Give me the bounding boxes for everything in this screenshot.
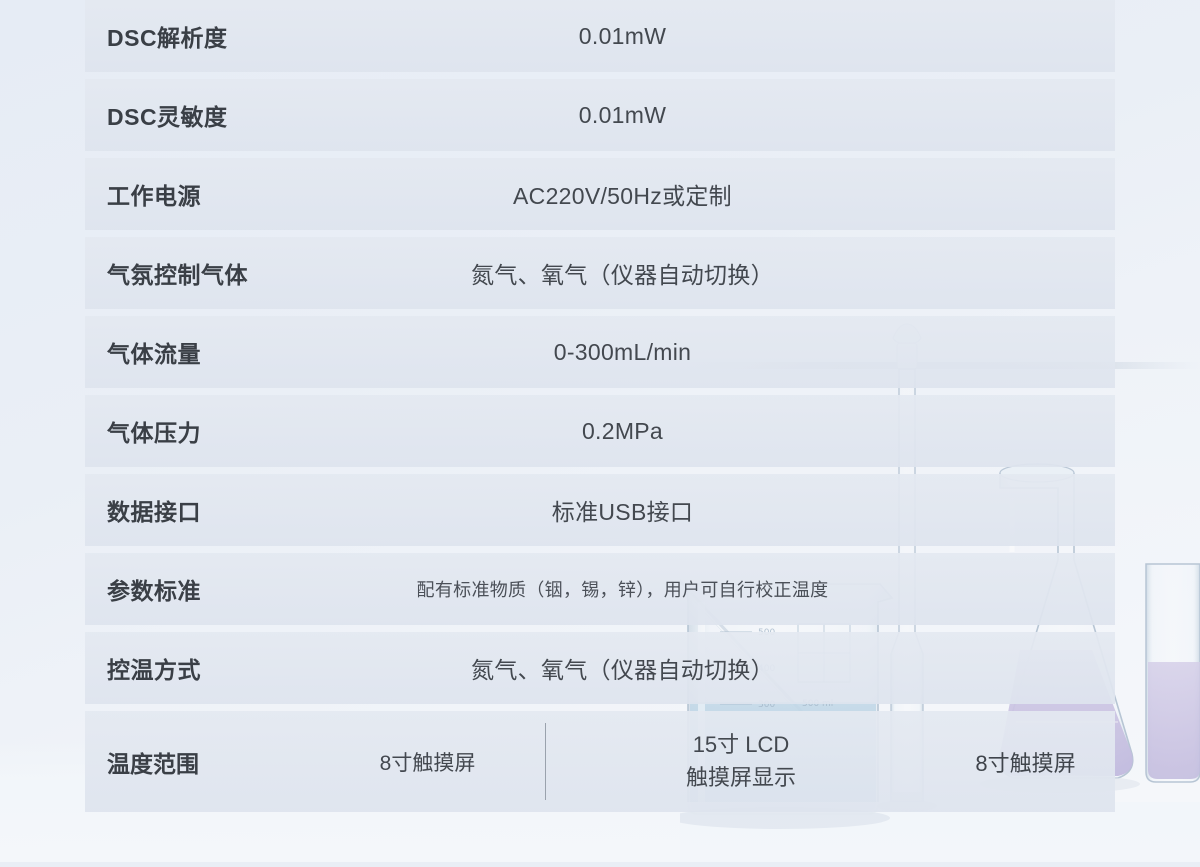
spec-value: AC220V/50Hz或定制: [310, 177, 935, 211]
spec-value-lcd-display: 15寸 LCD 触摸屏显示: [546, 729, 936, 794]
spec-value: 标准USB接口: [310, 493, 935, 527]
specification-table: DSC解析度 0.01mW DSC灵敏度 0.01mW 工作电源 AC220V/…: [85, 0, 1115, 812]
spec-label: 气氛控制气体: [85, 256, 310, 290]
spec-label: 数据接口: [85, 493, 310, 527]
table-row: 气体流量 0-300mL/min: [85, 316, 1115, 388]
spec-label: 气体流量: [85, 335, 310, 369]
table-row: 数据接口 标准USB接口: [85, 474, 1115, 546]
spec-label: DSC灵敏度: [85, 98, 310, 132]
table-row: 控温方式 氮气、氧气（仪器自动切换）: [85, 632, 1115, 704]
spec-value-touchscreen-left: 8寸触摸屏: [310, 747, 545, 777]
spec-value: 配有标准物质（铟，锡，锌），用户可自行校正温度: [310, 576, 935, 602]
spec-value-touchscreen-right: 8寸触摸屏: [936, 746, 1115, 778]
table-row: 气氛控制气体 氮气、氧气（仪器自动切换）: [85, 237, 1115, 309]
spec-label: DSC解析度: [85, 19, 310, 53]
spec-value: 氮气、氧气（仪器自动切换）: [310, 256, 935, 290]
spec-label: 气体压力: [85, 414, 310, 448]
spec-label: 工作电源: [85, 177, 310, 211]
table-row: DSC解析度 0.01mW: [85, 0, 1115, 72]
lcd-line-2: 触摸屏显示: [546, 762, 936, 795]
table-row: 参数标准 配有标准物质（铟，锡，锌），用户可自行校正温度: [85, 553, 1115, 625]
spec-value: 0-300mL/min: [310, 339, 935, 366]
spec-value: 0.2MPa: [310, 418, 935, 445]
table-row-temperature-range: 温度范围 8寸触摸屏 15寸 LCD 触摸屏显示 8寸触摸屏: [85, 711, 1115, 812]
table-row: DSC灵敏度 0.01mW: [85, 79, 1115, 151]
table-row: 气体压力 0.2MPa: [85, 395, 1115, 467]
table-row: 工作电源 AC220V/50Hz或定制: [85, 158, 1115, 230]
spec-value: 氮气、氧气（仪器自动切换）: [310, 651, 935, 685]
spec-label: 温度范围: [85, 745, 310, 779]
spec-value: 0.01mW: [310, 102, 935, 129]
lcd-line-1: 15寸 LCD: [546, 729, 936, 762]
spec-label: 控温方式: [85, 651, 310, 685]
spec-value: 0.01mW: [310, 23, 935, 50]
spec-label: 参数标准: [85, 572, 310, 606]
